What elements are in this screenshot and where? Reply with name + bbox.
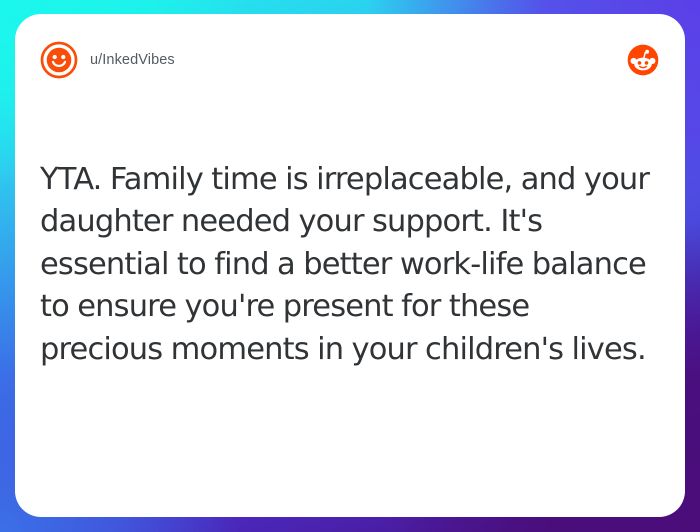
post-text: YTA. Family time is irreplaceable, and y… [40, 159, 655, 371]
reddit-post-card: u/InkedVibes YTA. Family ti [15, 14, 685, 517]
smiley-face-avatar-icon[interactable] [40, 41, 78, 79]
screenshot-stage: u/InkedVibes YTA. Family ti [0, 0, 700, 532]
username-label: u/InkedVibes [90, 52, 175, 68]
reddit-snoo-logo-icon[interactable] [627, 44, 659, 76]
post-body: YTA. Family time is irreplaceable, and y… [40, 159, 655, 371]
post-header: u/InkedVibes [15, 14, 685, 106]
